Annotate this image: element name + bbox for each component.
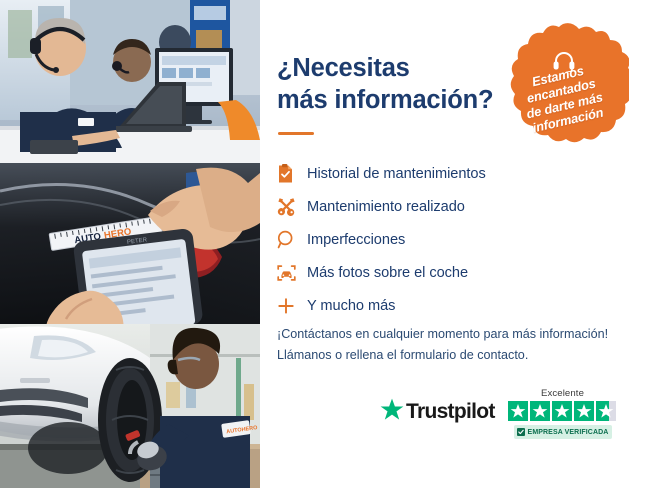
- feature-item-maintenance-performed: Mantenimiento realizado: [277, 190, 597, 223]
- feature-item-imperfections: Imperfecciones: [277, 223, 597, 256]
- star-filled: [508, 401, 528, 421]
- contact-line2: Llámanos o rellena el formulario de cont…: [277, 345, 637, 366]
- feature-item-maintenance-history: Historial de mantenimientos: [277, 157, 597, 190]
- star-partial: [596, 401, 616, 421]
- star-filled: [574, 401, 594, 421]
- heading-underline-divider: [278, 132, 314, 135]
- verified-check-icon: [517, 423, 525, 441]
- promo-card: AUTO HERO PETER: [0, 0, 650, 488]
- page-title: ¿Necesitas más información?: [277, 52, 517, 116]
- feature-item-more-photos: Más fotos sobre el coche: [277, 256, 597, 289]
- contact-line1: ¡Contáctanos en cualquier momento para m…: [277, 324, 637, 345]
- contact-paragraph: ¡Contáctanos en cualquier momento para m…: [277, 324, 637, 366]
- feature-item-label: Más fotos sobre el coche: [303, 265, 468, 281]
- verified-company-label: EMPRESA VERIFICADA: [528, 429, 609, 436]
- workshop-wheel-photo: AUTOHERO: [0, 324, 260, 488]
- photo-column: AUTO HERO PETER: [0, 0, 260, 488]
- car-scan-icon: [277, 262, 303, 284]
- trustpilot-logo[interactable]: Trustpilot: [380, 398, 495, 426]
- car-inspection-photo: AUTO HERO PETER: [0, 163, 260, 324]
- promo-starburst-badge: Estamos encantados de darte más informac…: [497, 22, 629, 157]
- trustpilot-rating-widget[interactable]: Trustpilot Excelente: [380, 388, 640, 450]
- feature-item-much-more: Y mucho más: [277, 289, 597, 322]
- page-title-line1: ¿Necesitas: [277, 54, 410, 82]
- call-center-agents-photo: [0, 0, 260, 163]
- feature-list: Historial de mantenimientos: [277, 157, 597, 322]
- trustpilot-wordmark: Trustpilot: [406, 400, 495, 424]
- magnifier-icon: [277, 229, 303, 251]
- star-filled: [530, 401, 550, 421]
- page-title-line2: más información?: [277, 84, 517, 116]
- feature-item-label: Y mucho más: [303, 298, 395, 314]
- plus-icon: [277, 295, 303, 317]
- trustpilot-rating-label: Excelente: [508, 388, 618, 399]
- content-panel: ¿Necesitas más información? Historial de…: [260, 0, 650, 488]
- crossed-tools-icon: [277, 196, 303, 218]
- feature-item-label: Mantenimiento realizado: [303, 199, 465, 215]
- document-check-icon: [277, 163, 303, 185]
- verified-company-badge: EMPRESA VERIFICADA: [514, 425, 612, 439]
- feature-item-label: Historial de mantenimientos: [303, 166, 486, 182]
- feature-item-label: Imperfecciones: [303, 232, 405, 248]
- trustpilot-score-block: Excelente: [500, 388, 625, 439]
- trustpilot-stars: [508, 401, 618, 421]
- star-filled: [552, 401, 572, 421]
- trustpilot-star-icon: [380, 398, 404, 426]
